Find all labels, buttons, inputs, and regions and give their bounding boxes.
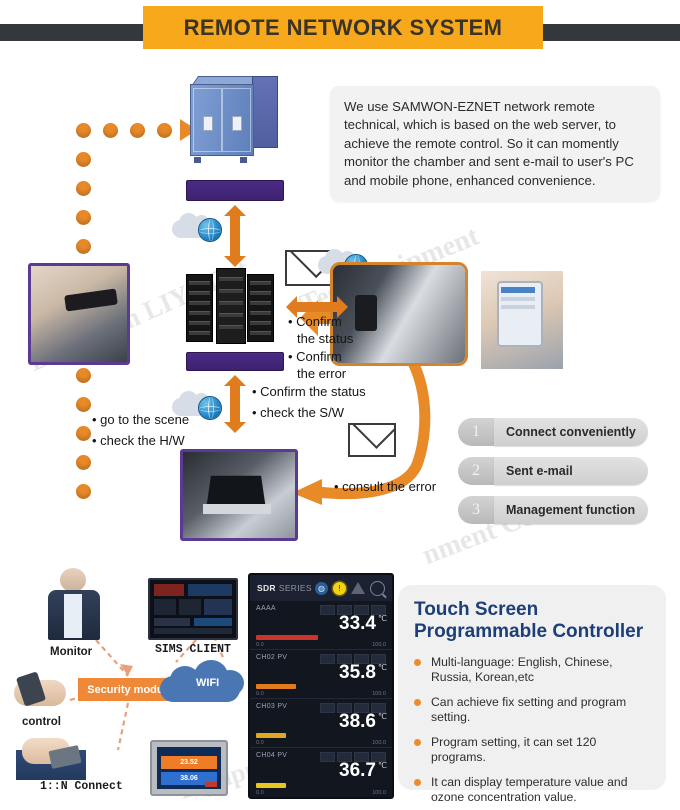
step-number: 3 bbox=[458, 496, 494, 524]
alert-lamp-icon[interactable]: ! bbox=[333, 582, 346, 595]
channel-row: CH03 PV 38.6 ℃ 0.0 100.0 bbox=[250, 699, 392, 748]
list-item[interactable]: 3 Management function bbox=[458, 496, 648, 524]
description-text: We use SAMWON-EZNET network remote techn… bbox=[344, 98, 646, 190]
channel-value: 38.6 bbox=[339, 711, 376, 733]
step-label: Connect conveniently bbox=[494, 418, 648, 446]
scale-min: 0.0 bbox=[256, 691, 264, 697]
feature-heading-line2: Programmable Controller bbox=[414, 621, 643, 642]
channel-row: CH04 PV 36.7 ℃ 0.0 100.0 bbox=[250, 748, 392, 797]
scale-max: 100.0 bbox=[372, 691, 386, 697]
globe-icon[interactable]: ◍ bbox=[315, 582, 328, 595]
annotation-confirm-status-check-sw: • Confirm the status • check the S/W bbox=[252, 383, 366, 421]
controller-header: SDRSERIES ◍ ! bbox=[250, 575, 392, 601]
chamber-base-bar bbox=[186, 180, 284, 201]
server-laptop-arrow bbox=[224, 375, 246, 433]
technician-photo bbox=[28, 263, 130, 365]
page-title-text: REMOTE NETWORK SYSTEM bbox=[184, 15, 503, 41]
annotation-scene-hw: • go to the scene • check the H/W bbox=[92, 411, 189, 449]
scale-min: 0.0 bbox=[256, 790, 264, 796]
scale-max: 100.0 bbox=[372, 740, 386, 746]
feature-bullet-list: Multi-language: English, Chinese, Russia… bbox=[414, 655, 652, 805]
tablet-user-photo bbox=[478, 268, 566, 372]
server-base-bar bbox=[186, 352, 284, 371]
label-control: control bbox=[22, 716, 61, 728]
touch-controller-device[interactable]: SDRSERIES ◍ ! AAAA 33.4 ℃ 0.0 100.0 CH02… bbox=[248, 573, 394, 799]
scale-max: 100.0 bbox=[372, 642, 386, 648]
warning-triangle-icon[interactable] bbox=[351, 582, 365, 594]
wifi-cloud: WIFI bbox=[160, 660, 248, 706]
scale-min: 0.0 bbox=[256, 642, 264, 648]
monitor-person-photo bbox=[44, 568, 106, 640]
sims-client-screen bbox=[148, 578, 238, 640]
controller-icons: ◍ ! bbox=[315, 581, 385, 596]
feature-panel: Touch Screen Programmable Controller Mul… bbox=[398, 585, 666, 790]
step-label: Management function bbox=[494, 496, 648, 524]
channel-value: 36.7 bbox=[339, 760, 376, 782]
wifi-label: WIFI bbox=[196, 677, 219, 689]
scale-max: 100.0 bbox=[372, 790, 386, 796]
list-item: Can achieve fix setting and program sett… bbox=[414, 695, 652, 725]
step-label: Sent e-mail bbox=[494, 457, 648, 485]
email-envelope-icon bbox=[348, 423, 396, 457]
page-title: REMOTE NETWORK SYSTEM bbox=[143, 6, 543, 49]
controller-brand: SDRSERIES bbox=[257, 583, 312, 593]
list-item[interactable]: 2 Sent e-mail bbox=[458, 457, 648, 485]
connect-phone-photo bbox=[16, 734, 90, 780]
channel-row: AAAA 33.4 ℃ 0.0 100.0 bbox=[250, 601, 392, 650]
channel-value: 35.8 bbox=[339, 662, 376, 684]
control-phone-photo bbox=[14, 672, 72, 710]
step-number: 1 bbox=[458, 418, 494, 446]
server-rack-image bbox=[186, 268, 272, 346]
hmi-panel: 23.52 38.06 bbox=[150, 740, 228, 796]
list-item: Multi-language: English, Chinese, Russia… bbox=[414, 655, 652, 685]
channel-unit: ℃ bbox=[378, 712, 387, 721]
laptop-user-photo bbox=[180, 449, 298, 541]
annotation-confirm-status-top: • Confirm the status bbox=[288, 313, 353, 347]
label-monitor: Monitor bbox=[50, 646, 92, 658]
feature-heading-line1: Touch Screen bbox=[414, 599, 538, 620]
step-number: 2 bbox=[458, 457, 494, 485]
chamber-server-arrow bbox=[224, 205, 246, 267]
list-item: It can display temperature value and ozo… bbox=[414, 775, 652, 805]
channel-value: 33.4 bbox=[339, 613, 376, 635]
list-item[interactable]: 1 Connect conveniently bbox=[458, 418, 648, 446]
label-connect: 1::N Connect bbox=[40, 780, 123, 793]
channel-row: CH02 PV 35.8 ℃ 0.0 100.0 bbox=[250, 650, 392, 699]
hmi-value-top: 23.52 bbox=[161, 756, 217, 769]
infographic-page: Dongguan LIYI Test Test Equipment Equipm… bbox=[0, 0, 680, 810]
test-chamber-image bbox=[190, 76, 280, 158]
steps-list: 1 Connect conveniently 2 Sent e-mail 3 M… bbox=[458, 418, 648, 535]
channel-unit: ℃ bbox=[378, 761, 387, 770]
cloud-globe-icon bbox=[172, 212, 224, 244]
annotation-consult-error: • consult the error bbox=[334, 478, 436, 495]
label-sims-client: SIMS CLIENT bbox=[155, 643, 231, 656]
search-icon[interactable] bbox=[370, 581, 385, 596]
description-card: We use SAMWON-EZNET network remote techn… bbox=[330, 86, 660, 201]
feature-heading: Touch Screen Programmable Controller bbox=[414, 599, 652, 643]
channel-unit: ℃ bbox=[378, 663, 387, 672]
scale-min: 0.0 bbox=[256, 740, 264, 746]
annotation-confirm-error: • Confirm the error bbox=[288, 348, 346, 382]
channel-unit: ℃ bbox=[378, 614, 387, 623]
list-item: Program setting, it can set 120 programs… bbox=[414, 735, 652, 765]
